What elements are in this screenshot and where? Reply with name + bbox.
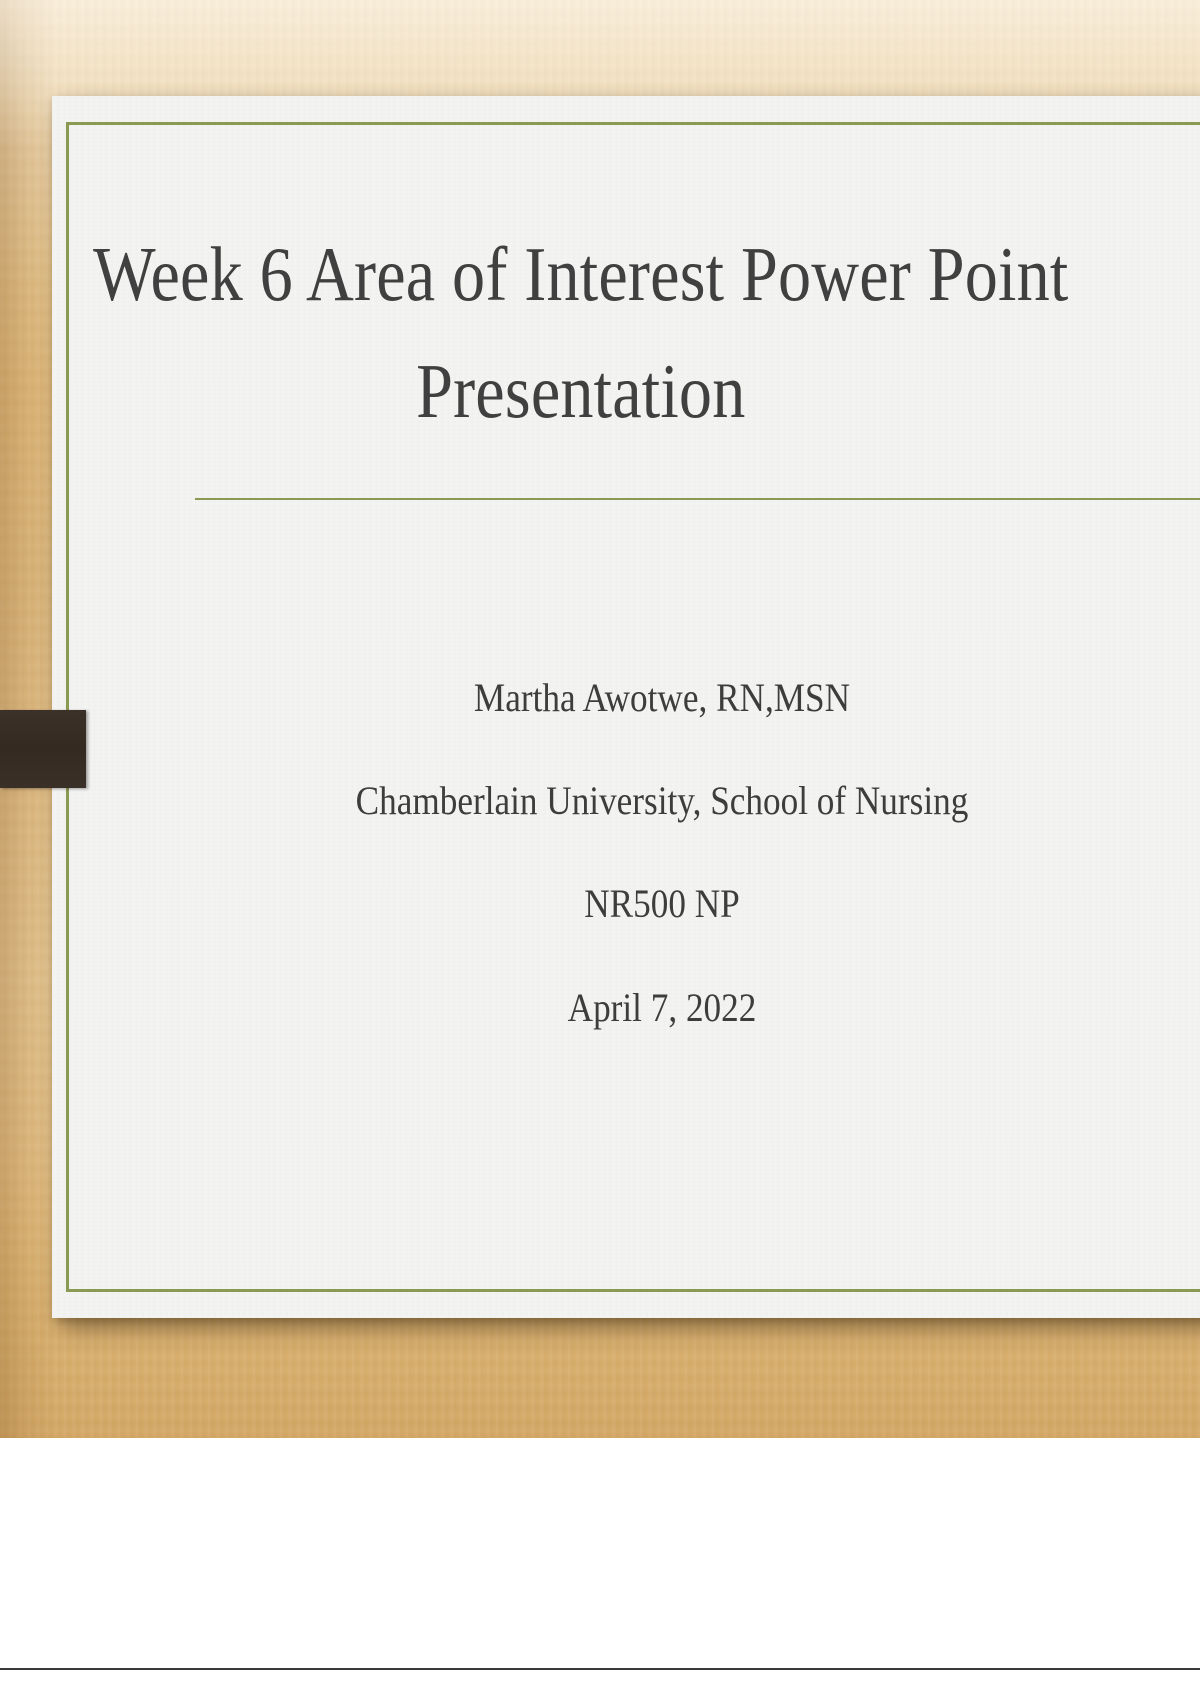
slide-content: Week 6 Area of Interest Power Point Pres…: [52, 96, 1200, 1318]
page-bottom-divider: [0, 1668, 1200, 1670]
slide-title: Week 6 Area of Interest Power Point Pres…: [82, 216, 1080, 450]
page-root: Week 6 Area of Interest Power Point Pres…: [0, 0, 1200, 1700]
slide-subtitle-block: Martha Awotwe, RN,MSN Chamberlain Univer…: [152, 646, 1173, 1059]
slide-date: April 7, 2022: [152, 956, 1173, 1059]
left-edge-dark-tab: [0, 710, 86, 788]
slide-card: Week 6 Area of Interest Power Point Pres…: [52, 96, 1200, 1318]
title-underline-rule: [195, 498, 1200, 500]
page-white-area: [0, 1438, 1200, 1700]
slide-institution: Chamberlain University, School of Nursin…: [152, 749, 1173, 852]
slide-course: NR500 NP: [152, 852, 1173, 955]
slide-author: Martha Awotwe, RN,MSN: [152, 646, 1173, 749]
